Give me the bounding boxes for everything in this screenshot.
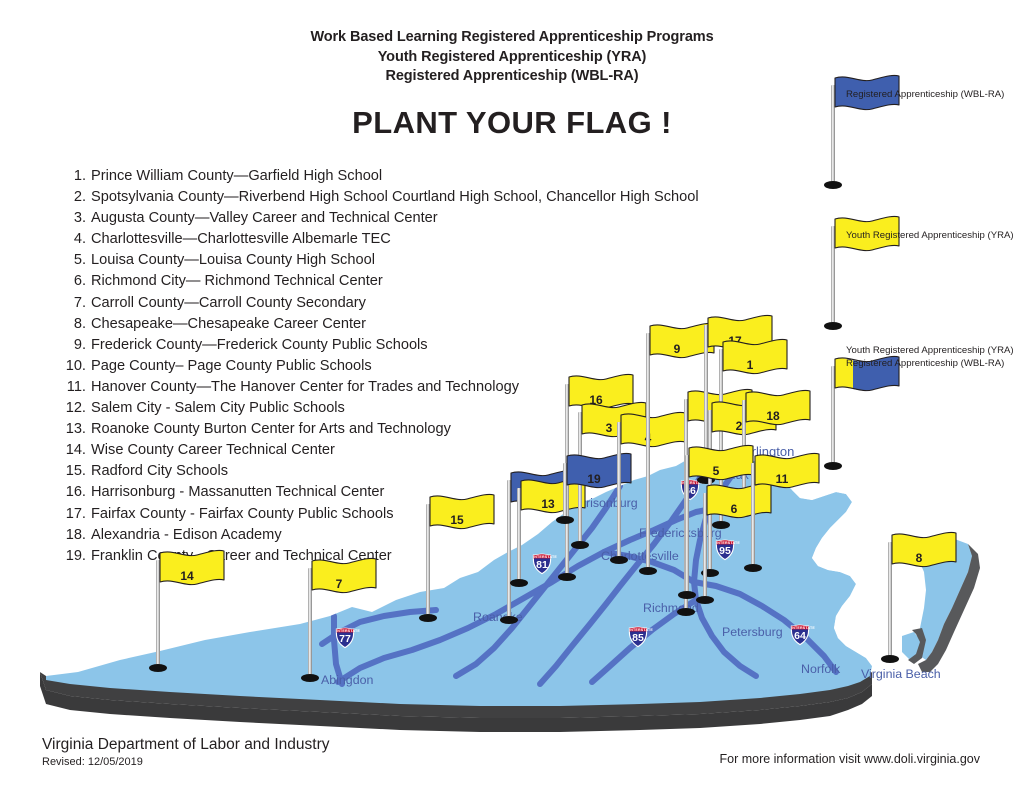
list-item-number: 2.	[60, 187, 86, 208]
list-item-number: 17.	[60, 504, 86, 525]
city-label-abingdon: Abingdon	[321, 673, 373, 687]
city-label-virginia-beach: Virginia Beach	[861, 667, 931, 681]
flag-base	[500, 616, 518, 624]
list-item-number: 18.	[60, 525, 86, 546]
list-item-label: Hanover County—The Hanover Center for Tr…	[86, 377, 519, 398]
shield-top-label: INTERSTATE	[629, 628, 647, 632]
interstate-shield-64: INTERSTATE64	[789, 624, 811, 646]
list-item-number: 8.	[60, 314, 86, 335]
list-item-label: Roanoke County Burton Center for Arts an…	[86, 419, 451, 440]
flag-base	[571, 541, 589, 549]
poster-canvas: Work Based Learning Registered Apprentic…	[0, 0, 1024, 791]
list-item-label: Spotsylvania County—Riverbend High Schoo…	[86, 187, 699, 208]
shield-top-label: INTERSTATE	[336, 629, 354, 633]
shield-top-label: INTERSTATE	[791, 626, 809, 630]
list-item-number: 13.	[60, 419, 86, 440]
flag-base	[824, 462, 842, 470]
flag-base	[510, 579, 528, 587]
list-item-label: Charlottesville—Charlottesville Albemarl…	[86, 229, 391, 250]
shield-number: 95	[714, 546, 736, 556]
flag-number: 1	[735, 359, 765, 371]
footer-left: Virginia Department of Labor and Industr…	[42, 735, 330, 770]
list-item-label: Alexandria - Edison Academy	[86, 525, 282, 546]
shield-number: 64	[789, 631, 811, 641]
flag-number: 13	[533, 498, 563, 510]
list-item-number: 7.	[60, 293, 86, 314]
list-item-label: Chesapeake—Chesapeake Career Center	[86, 314, 366, 335]
list-item: 8.Chesapeake—Chesapeake Career Center	[60, 314, 700, 335]
flag-number: 15	[442, 514, 472, 526]
list-item-number: 10.	[60, 356, 86, 377]
flag-number: 14	[172, 570, 202, 582]
more-information-link[interactable]: For more information visit www.doli.virg…	[719, 752, 980, 766]
list-item-label: Augusta County—Valley Career and Technic…	[86, 208, 438, 229]
flag-number: 9	[662, 343, 692, 355]
list-item-number: 11.	[60, 377, 86, 398]
city-label-norfolk: Norfolk	[801, 662, 840, 676]
flag-base	[677, 608, 695, 616]
flag-base	[639, 567, 657, 575]
flag-number: 11	[767, 473, 797, 485]
flag-base	[696, 596, 714, 604]
city-label-petersburg: Petersburg	[722, 625, 783, 639]
list-item-label: Wise County Career Technical Center	[86, 440, 335, 461]
list-item-label: Salem City - Salem City Public Schools	[86, 398, 345, 419]
list-item-label: Prince William County—Garfield High Scho…	[86, 166, 382, 187]
shield-number: 81	[531, 560, 553, 570]
flag-base	[419, 614, 437, 622]
shield-top-label: INTERSTATE	[533, 555, 551, 559]
list-item-number: 14.	[60, 440, 86, 461]
flag-base	[678, 591, 696, 599]
flag-number: 19	[579, 473, 609, 485]
list-item-number: 15.	[60, 461, 86, 482]
flag-number: 7	[324, 578, 354, 590]
agency-name: Virginia Department of Labor and Industr…	[42, 735, 330, 755]
list-item-label: Carroll County—Carroll County Secondary	[86, 293, 366, 314]
shield-number: 85	[627, 633, 649, 643]
list-item-label: Frederick County—Frederick County Public…	[86, 335, 428, 356]
revision-date: Revised: 12/05/2019	[42, 755, 330, 770]
list-item: 4.Charlottesville—Charlottesville Albema…	[60, 229, 700, 250]
list-item-number: 19.	[60, 546, 86, 567]
list-item-number: 5.	[60, 250, 86, 271]
list-item-number: 1.	[60, 166, 86, 187]
shield-number: 77	[334, 634, 356, 644]
list-item-number: 3.	[60, 208, 86, 229]
list-item-number: 6.	[60, 271, 86, 292]
flag-number: 5	[701, 465, 731, 477]
flag-base	[558, 573, 576, 581]
flag-number: 6	[719, 503, 749, 515]
list-item: 6.Richmond City— Richmond Technical Cent…	[60, 271, 700, 292]
flag-base	[881, 655, 899, 663]
flag-base	[610, 556, 628, 564]
list-item-label: Harrisonburg - Massanutten Technical Cen…	[86, 482, 384, 503]
interstate-shield-81: INTERSTATE81	[531, 553, 553, 575]
flag-pole	[646, 333, 649, 571]
list-item: 18.Alexandria - Edison Academy	[60, 525, 700, 546]
list-item-number: 16.	[60, 482, 86, 503]
flag-base	[744, 564, 762, 572]
list-item: 9.Frederick County—Frederick County Publ…	[60, 335, 700, 356]
flag-base	[824, 322, 842, 330]
list-item: 1.Prince William County—Garfield High Sc…	[60, 166, 700, 187]
legend-caption: Youth Registered Apprenticeship (YRA)	[846, 230, 1014, 242]
legend-caption: Registered Apprenticeship (WBL-RA)	[846, 358, 1004, 370]
list-item-label: Page County– Page County Public Schools	[86, 356, 372, 377]
flag-base	[556, 516, 574, 524]
list-item-number: 4.	[60, 229, 86, 250]
list-item-label: Radford City Schools	[86, 461, 228, 482]
flag-number: 8	[904, 552, 934, 564]
flag-number: 18	[758, 410, 788, 422]
flag-base	[301, 674, 319, 682]
list-item-number: 12.	[60, 398, 86, 419]
legend-caption: Registered Apprenticeship (WBL-RA)	[846, 89, 1004, 101]
interstate-shield-95: INTERSTATE95	[714, 539, 736, 561]
list-item-number: 9.	[60, 335, 86, 356]
list-item: 3.Augusta County—Valley Career and Techn…	[60, 208, 700, 229]
interstate-shield-77: INTERSTATE77	[334, 627, 356, 649]
flag-base	[149, 664, 167, 672]
legend-caption: Youth Registered Apprenticeship (YRA)	[846, 345, 1014, 357]
shield-top-label: INTERSTATE	[716, 541, 734, 545]
list-item: 5.Louisa County—Louisa County High Schoo…	[60, 250, 700, 271]
list-item-label: Richmond City— Richmond Technical Center	[86, 271, 383, 292]
list-item: 2.Spotsylvania County—Riverbend High Sch…	[60, 187, 700, 208]
flag-base	[824, 181, 842, 189]
list-item: 7.Carroll County—Carroll County Secondar…	[60, 293, 700, 314]
list-item-label: Fairfax County - Fairfax County Public S…	[86, 504, 394, 525]
interstate-shield-85: INTERSTATE85	[627, 626, 649, 648]
list-item-label: Louisa County—Louisa County High School	[86, 250, 375, 271]
